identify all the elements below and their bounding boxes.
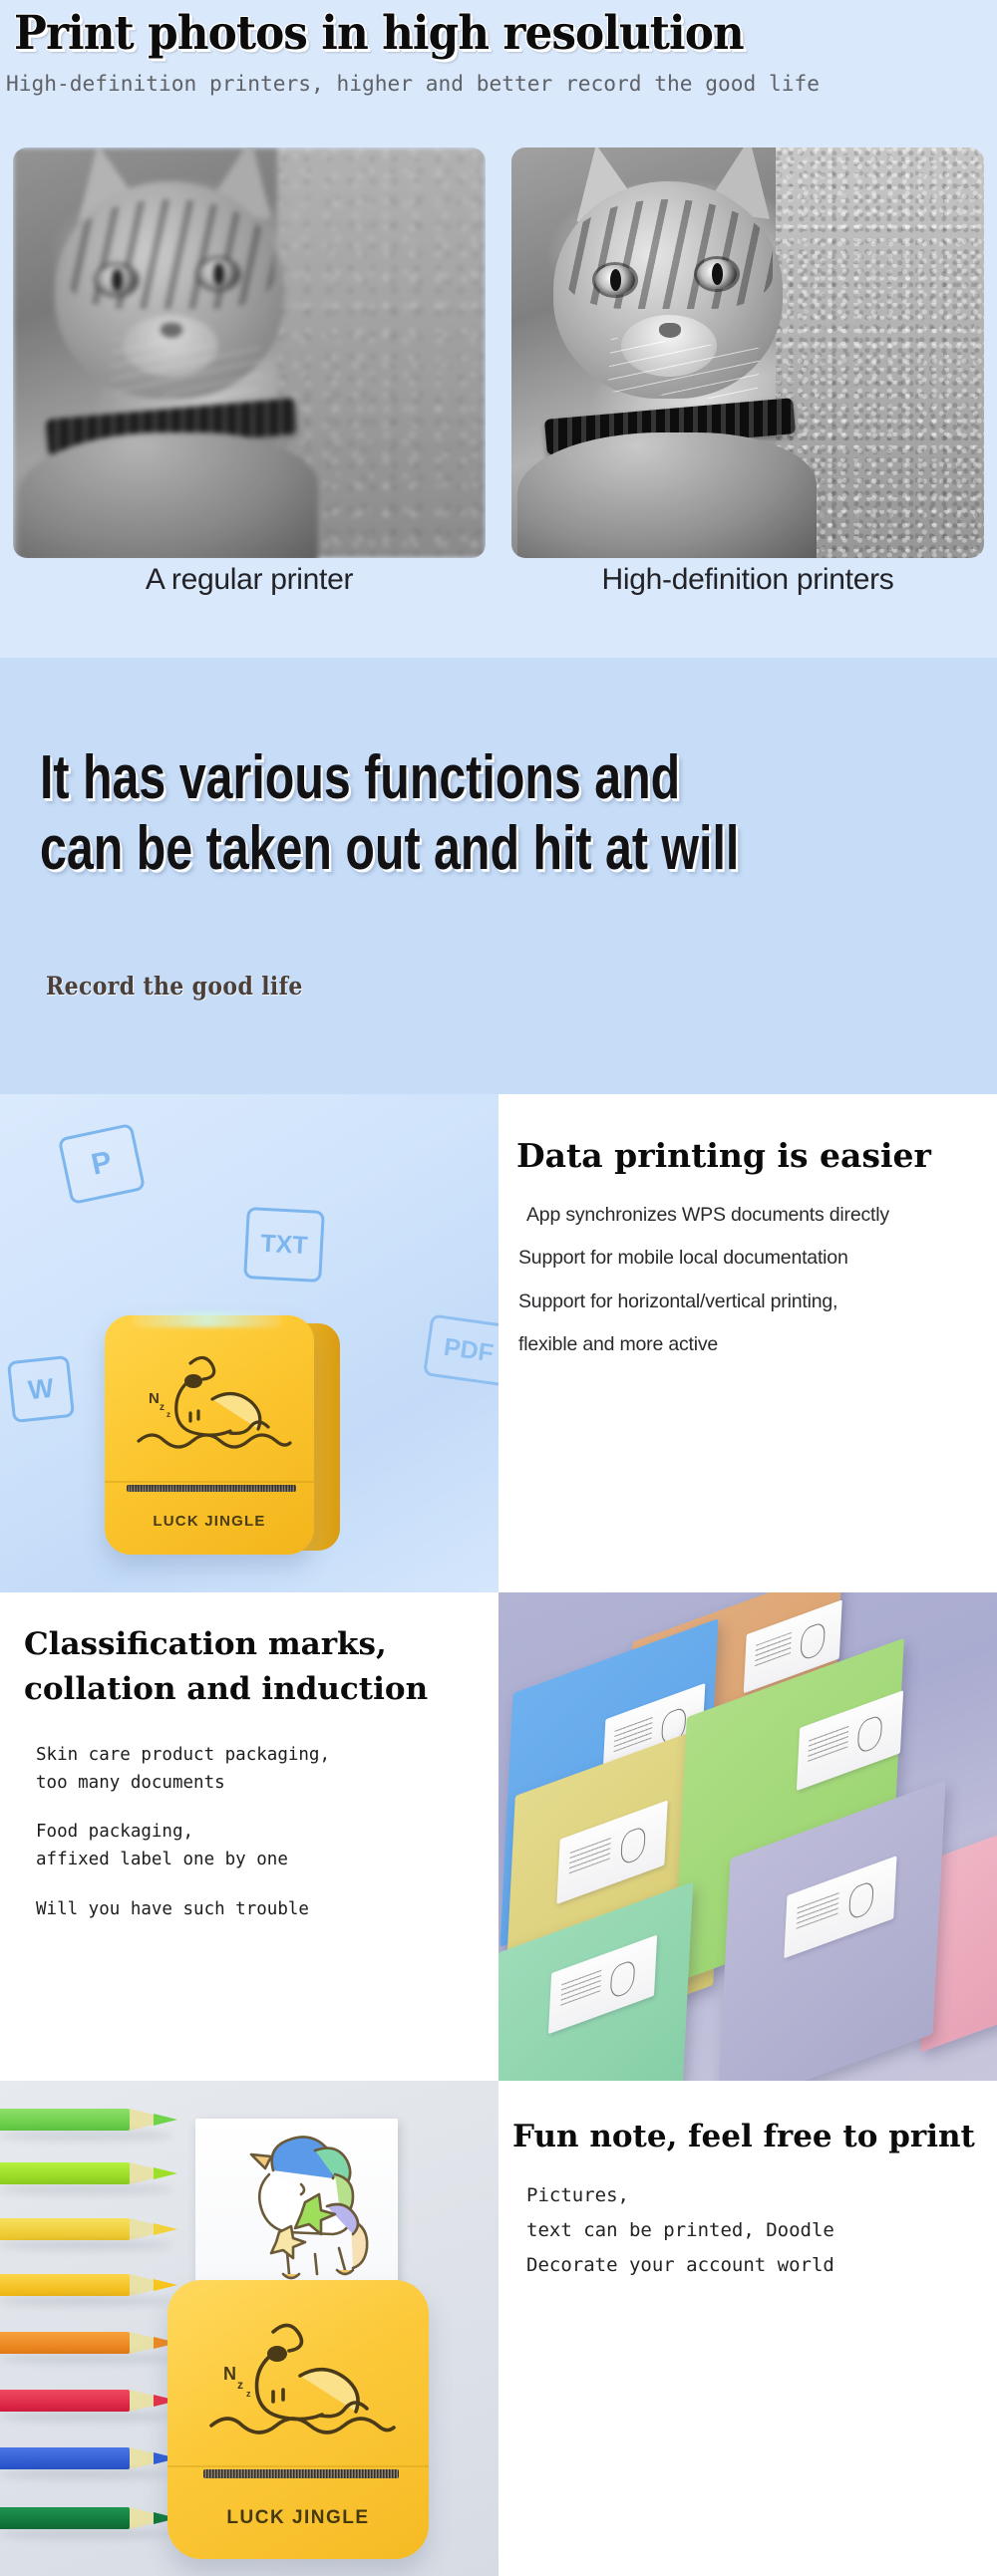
cat-eye-left — [595, 265, 635, 295]
cat-nose — [161, 323, 182, 338]
cat-stripes — [563, 199, 773, 309]
fun-note-line: text can be printed, Doodle — [526, 2213, 834, 2248]
pencil-shaft — [0, 2390, 130, 2412]
fun-note-title: Fun note, feel free to print — [512, 2119, 975, 2154]
pencil-tip — [154, 2167, 177, 2179]
cat-photo-blurry — [13, 147, 486, 558]
cat-pupil-right — [712, 263, 723, 285]
printer-brand-label: LUCK JINGLE — [105, 1513, 314, 1530]
classification-line: Will you have such trouble — [36, 1896, 330, 1924]
data-printing-title: Data printing is easier — [516, 1136, 931, 1175]
printed-label — [556, 1800, 667, 1904]
paper-output-slot — [203, 2469, 399, 2478]
photo-regular-printer — [13, 147, 486, 558]
feature-line: App synchronizes WPS documents directly — [518, 1194, 889, 1237]
pencil-shadow — [0, 2240, 172, 2250]
file-type-pdf-icon: PDF — [423, 1313, 498, 1386]
classification-text-panel: Classification marks, collation and indu… — [0, 1592, 498, 2081]
printer-front-face: N z z LUCK JINGLE — [105, 1315, 314, 1555]
classification-title: Classification marks, collation and indu… — [24, 1622, 428, 1713]
caption-hd-printer: High-definition printers — [511, 563, 984, 597]
pencil-shaft — [0, 2507, 130, 2529]
caption-row: A regular printer High-definition printe… — [0, 563, 997, 623]
cat-pupil-right — [213, 263, 224, 285]
page-title: Print photos in high resolution — [14, 6, 744, 61]
svg-text:N: N — [149, 1390, 160, 1407]
cat-eye-right — [198, 259, 238, 289]
pencil-shaft — [0, 2109, 130, 2131]
file-type-txt-icon: TXT — [243, 1207, 325, 1283]
pencil-shaft — [0, 2447, 130, 2469]
classification-list: Skin care product packaging, too many do… — [36, 1742, 330, 1945]
page-subtitle: High-definition printers, higher and bet… — [6, 72, 820, 97]
printed-unicorn-sticker — [195, 2119, 398, 2296]
banner-subhead: Record the good life — [46, 972, 303, 1001]
notebooks-photo-panel — [498, 1592, 997, 2081]
pencil-tip — [154, 2223, 177, 2235]
file-type-w-icon: W — [7, 1355, 75, 1423]
feature-banner-section: It has various functions and can be take… — [0, 658, 997, 1094]
printer-photo-panel: P TXT W PDF N z — [0, 1094, 498, 1592]
svg-text:N: N — [223, 2364, 236, 2384]
sleeping-dog-icon: N z z — [131, 1347, 292, 1467]
feature-line: flexible and more active — [518, 1323, 889, 1366]
fun-note-line: Pictures, — [526, 2178, 834, 2213]
printed-label — [784, 1856, 896, 1958]
printed-label — [548, 1935, 657, 2035]
pencil-shaft — [0, 2162, 130, 2184]
printer-seam — [167, 2465, 429, 2467]
classification-line: Skin care product packaging, too many do… — [36, 1742, 330, 1797]
pencil-shaft — [0, 2218, 130, 2240]
cat-whiskers — [607, 338, 760, 402]
cat-pupil-left — [610, 269, 621, 291]
cat-pupil-left — [112, 269, 123, 291]
comparison-photo-row — [0, 147, 997, 556]
fun-note-list: Pictures, text can be printed, Doodle De… — [526, 2178, 834, 2283]
sleeping-dog-icon: N z z — [201, 2314, 397, 2455]
fun-note-text-panel: Fun note, feel free to print Pictures, t… — [498, 2081, 997, 2576]
data-printing-text-panel: Data printing is easier App synchronizes… — [498, 1094, 997, 1592]
cat-chest — [517, 432, 817, 558]
photo-hd-printer — [511, 147, 984, 558]
svg-text:z: z — [160, 1402, 165, 1413]
classification-section: Classification marks, collation and indu… — [0, 1592, 997, 2081]
cat-photo-sharp — [511, 147, 984, 558]
printed-label — [797, 1690, 903, 1791]
cat-stripes — [65, 199, 274, 309]
pencil-shadow — [0, 2412, 172, 2422]
pocket-printer-product: N z z LUCK JINGLE — [167, 2280, 429, 2559]
data-printing-section: P TXT W PDF N z — [0, 1094, 997, 1592]
pencil-shadow — [0, 2131, 172, 2141]
cat-chest — [19, 432, 318, 558]
pencil-shaft — [0, 2332, 130, 2354]
classification-line: Food packaging, affixed label one by one — [36, 1819, 330, 1873]
printer-seam — [105, 1481, 314, 1483]
pencil-shadow — [0, 2354, 172, 2364]
svg-text:z: z — [166, 1410, 170, 1419]
hero-section: Print photos in high resolution High-def… — [0, 0, 997, 658]
fun-note-line: Decorate your account world — [526, 2248, 834, 2283]
printer-front-face: N z z LUCK JINGLE — [167, 2280, 429, 2559]
cat-eye-left — [97, 265, 137, 295]
caption-regular-printer: A regular printer — [13, 563, 486, 597]
pencil-shadow — [0, 2296, 172, 2306]
pencil-shadow — [0, 2184, 172, 2194]
paper-output-slot — [127, 1485, 296, 1492]
cat-nose — [659, 323, 681, 338]
feature-line: Support for mobile local documentation — [518, 1237, 889, 1280]
pencils-photo-panel: N z z LUCK JINGLE — [0, 2081, 498, 2576]
pocket-printer-product: N z z LUCK JINGLE — [105, 1315, 334, 1563]
svg-text:z: z — [246, 2389, 251, 2399]
pencil-tip — [154, 2114, 177, 2126]
pencil-shadow — [0, 2529, 172, 2539]
feature-line: Support for horizontal/vertical printing… — [518, 1281, 889, 1323]
cat-eye-right — [697, 259, 737, 289]
printer-top-glow — [133, 1311, 282, 1327]
printer-brand-label: LUCK JINGLE — [167, 2507, 429, 2529]
pencil-shaft — [0, 2274, 130, 2296]
svg-text:z: z — [237, 2378, 243, 2392]
data-printing-feature-list: App synchronizes WPS documents directly … — [518, 1194, 889, 1366]
cat-whiskers — [109, 338, 261, 402]
pencil-shadow — [0, 2469, 172, 2479]
banner-headline: It has various functions and can be take… — [40, 743, 739, 884]
fun-note-section: N z z LUCK JINGLE Fun note, feel free to… — [0, 2081, 997, 2576]
